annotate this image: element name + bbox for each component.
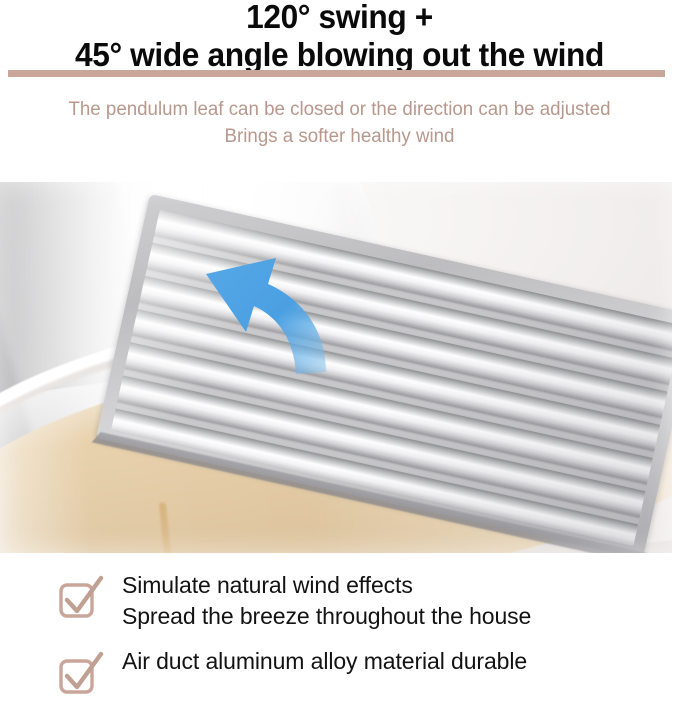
- feature-label: Simulate natural wind effects Spread the…: [122, 570, 531, 632]
- product-feature-panel: 120° swing + 45° wide angle blowing out …: [0, 0, 679, 705]
- feature-label: Air duct aluminum alloy material durable: [122, 646, 527, 677]
- check-box-icon: [58, 576, 102, 620]
- list-item: Simulate natural wind effects Spread the…: [0, 570, 679, 632]
- page-title: 120° swing + 45° wide angle blowing out …: [14, 0, 666, 74]
- check-box-icon: [58, 652, 102, 696]
- product-photo: [0, 182, 672, 553]
- airflow-arrow-up-left: [176, 222, 366, 392]
- list-item: Air duct aluminum alloy material durable: [0, 646, 679, 696]
- feature-list: Simulate natural wind effects Spread the…: [0, 570, 679, 710]
- page-subtitle: The pendulum leaf can be closed or the d…: [5, 96, 674, 150]
- title-divider: [8, 70, 665, 77]
